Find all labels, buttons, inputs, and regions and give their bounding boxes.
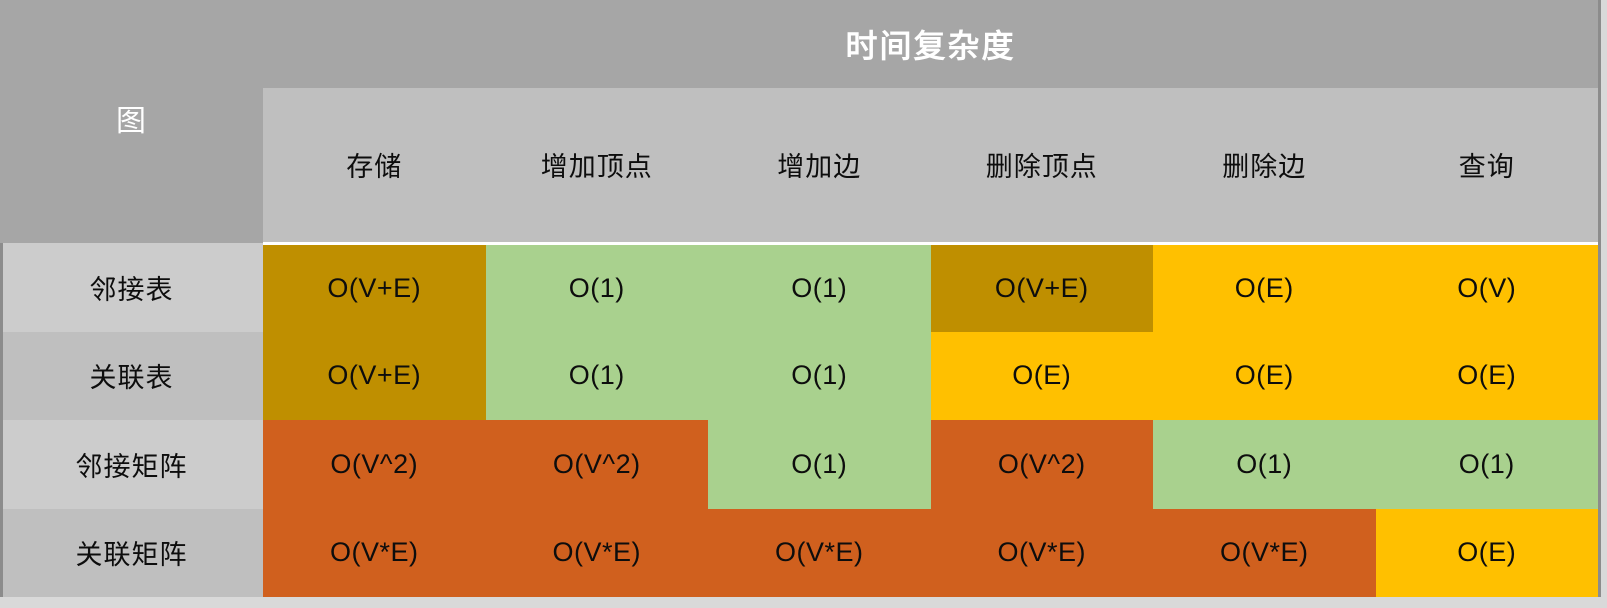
cell-inclist-remove-vertex: O(E) [931, 332, 1154, 421]
cell-inclist-remove-edge: O(E) [1153, 332, 1376, 421]
cell-adjlist-query: O(V) [1376, 243, 1599, 332]
complexity-table-wrap: 存储 增加顶点 增加边 删除顶点 删除边 查询 邻接表 O(V+E) O(1) … [0, 88, 1598, 597]
table-row: 关联表 O(V+E) O(1) O(1) O(E) O(E) O(E) [0, 332, 1598, 421]
cell-incmatrix-query: O(E) [1376, 509, 1599, 598]
cell-incmatrix-storage: O(V*E) [263, 509, 486, 598]
column-header-storage: 存储 [263, 88, 486, 243]
cell-inclist-storage: O(V+E) [263, 332, 486, 421]
cell-inclist-add-edge: O(1) [708, 332, 931, 421]
column-header-add-edge: 增加边 [708, 88, 931, 243]
row-header-incidence-matrix: 关联矩阵 [0, 509, 263, 598]
cell-inclist-add-vertex: O(1) [486, 332, 709, 421]
cell-incmatrix-remove-vertex: O(V*E) [931, 509, 1154, 598]
cell-adjmatrix-add-vertex: O(V^2) [486, 420, 709, 509]
cell-incmatrix-remove-edge: O(V*E) [1153, 509, 1376, 598]
cell-adjlist-storage: O(V+E) [263, 243, 486, 332]
cell-adjlist-remove-vertex: O(V+E) [931, 243, 1154, 332]
row-header-adjacency-list: 邻接表 [0, 243, 263, 332]
cell-adjmatrix-query: O(1) [1376, 420, 1599, 509]
table-row: 邻接表 O(V+E) O(1) O(1) O(V+E) O(E) O(V) [0, 243, 1598, 332]
cell-adjmatrix-remove-edge: O(1) [1153, 420, 1376, 509]
slide-canvas: 图 时间复杂度 存储 增加顶点 增加边 删除顶点 删除边 查询 [0, 0, 1607, 608]
cell-inclist-query: O(E) [1376, 332, 1599, 421]
table-row: 关联矩阵 O(V*E) O(V*E) O(V*E) O(V*E) O(V*E) … [0, 509, 1598, 598]
cell-adjmatrix-add-edge: O(1) [708, 420, 931, 509]
column-header-remove-vertex: 删除顶点 [931, 88, 1154, 243]
column-header-remove-edge: 删除边 [1153, 88, 1376, 243]
header-corner-spacer [0, 88, 263, 243]
row-header-incidence-list: 关联表 [0, 332, 263, 421]
cell-adjlist-add-edge: O(1) [708, 243, 931, 332]
page-right-margin [1601, 0, 1607, 608]
cell-incmatrix-add-vertex: O(V*E) [486, 509, 709, 598]
table-left-edge [0, 243, 3, 597]
cell-adjlist-add-vertex: O(1) [486, 243, 709, 332]
table-row: 邻接矩阵 O(V^2) O(V^2) O(1) O(V^2) O(1) O(1) [0, 420, 1598, 509]
cell-adjmatrix-remove-vertex: O(V^2) [931, 420, 1154, 509]
cell-incmatrix-add-edge: O(V*E) [708, 509, 931, 598]
complexity-table: 存储 增加顶点 增加边 删除顶点 删除边 查询 邻接表 O(V+E) O(1) … [0, 88, 1598, 597]
column-header-query: 查询 [1376, 88, 1599, 243]
column-header-add-vertex: 增加顶点 [486, 88, 709, 243]
cell-adjmatrix-storage: O(V^2) [263, 420, 486, 509]
table-header-row: 存储 增加顶点 增加边 删除顶点 删除边 查询 [0, 88, 1598, 243]
page-title: 时间复杂度 [263, 0, 1598, 88]
row-header-adjacency-matrix: 邻接矩阵 [0, 420, 263, 509]
cell-adjlist-remove-edge: O(E) [1153, 243, 1376, 332]
